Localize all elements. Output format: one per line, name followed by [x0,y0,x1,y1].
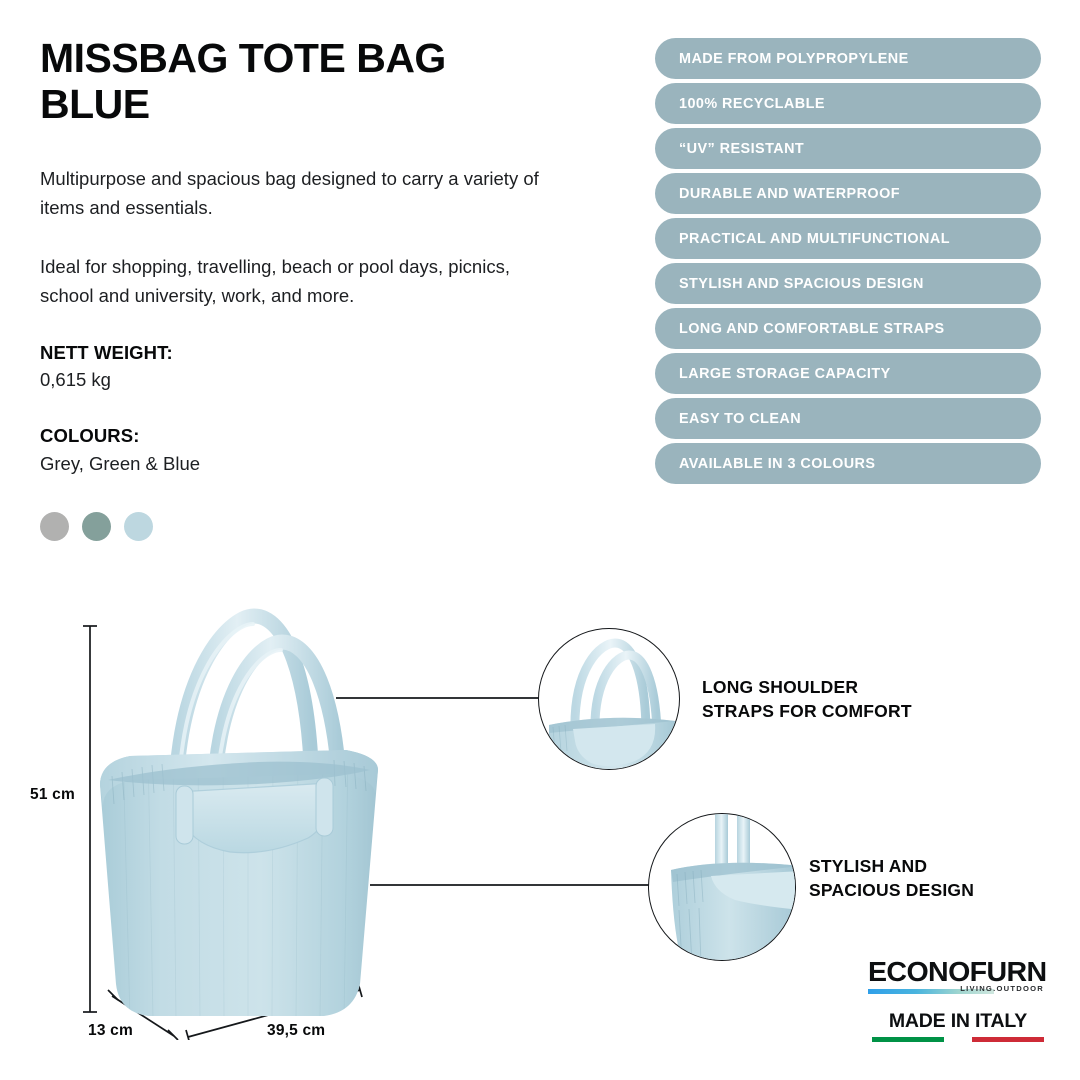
made-in-italy-badge: MADE IN ITALY [872,1012,1044,1042]
feature-pill: DURABLE AND WATERPROOF [655,173,1041,214]
feature-pill: LONG AND COMFORTABLE STRAPS [655,308,1041,349]
product-diagram: 51 cm 13 cm 39,5 cm [0,560,1080,1080]
nett-weight-value: 0,615 kg [40,366,620,394]
spec-colours: COLOURS: Grey, Green & Blue [40,422,620,478]
product-description-2: Ideal for shopping, travelling, beach or… [40,252,565,310]
page-title: MISSBAG TOTE BAG BLUE [40,36,510,128]
feature-pill: LARGE STORAGE CAPACITY [655,353,1041,394]
product-spec-sheet: MISSBAG TOTE BAG BLUE Multipurpose and s… [0,0,1080,1080]
feature-pill: MADE FROM POLYPROPYLENE [655,38,1041,79]
nett-weight-label: NETT WEIGHT: [40,339,620,367]
made-in-italy-text: MADE IN ITALY [872,1012,1044,1032]
product-description-1: Multipurpose and spacious bag designed t… [40,164,565,222]
colour-swatch-green[interactable] [82,512,111,541]
colours-value: Grey, Green & Blue [40,450,620,478]
logo-wordmark: ECONOFURN [868,958,1048,986]
product-info-column: MISSBAG TOTE BAG BLUE Multipurpose and s… [40,36,620,478]
feature-pill-list: MADE FROM POLYPROPYLENE100% RECYCLABLE“U… [655,38,1041,488]
feature-pill: 100% RECYCLABLE [655,83,1041,124]
callout-leader-lines [0,560,1080,1080]
callout-label-straps: LONG SHOULDER STRAPS FOR COMFORT [702,675,912,723]
feature-pill: STYLISH AND SPACIOUS DESIGN [655,263,1041,304]
feature-pill: “UV” RESISTANT [655,128,1041,169]
callout-label-design: STYLISH AND SPACIOUS DESIGN [809,854,974,902]
brand-logo: ECONOFURN LIVING.OUTDOOR [868,958,1044,994]
feature-pill: PRACTICAL AND MULTIFUNCTIONAL [655,218,1041,259]
colour-swatch-grey[interactable] [40,512,69,541]
italian-flag-icon [872,1037,1044,1042]
callout-circle-body [648,813,796,961]
callout-circle-straps [538,628,680,770]
logo-tagline: LIVING.OUTDOOR [960,984,1044,993]
colour-swatch-list [40,512,153,541]
colour-swatch-blue[interactable] [124,512,153,541]
colours-label: COLOURS: [40,422,620,450]
spec-nett-weight: NETT WEIGHT: 0,615 kg [40,339,620,395]
feature-pill: AVAILABLE IN 3 COLOURS [655,443,1041,484]
feature-pill: EASY TO CLEAN [655,398,1041,439]
